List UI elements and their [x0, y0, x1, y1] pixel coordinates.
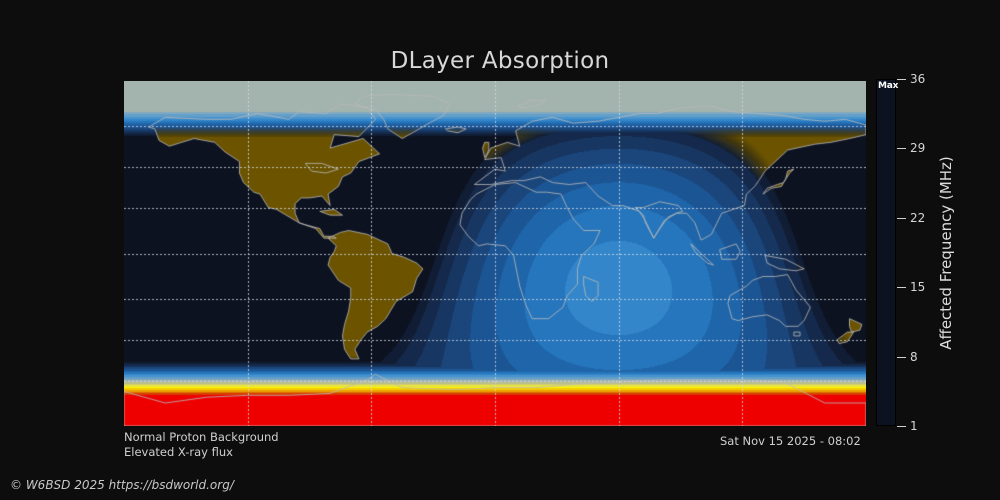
colorbar-tick-mark — [897, 148, 906, 149]
colorbar-tick-mark — [897, 426, 906, 427]
colorbar: Max — [876, 79, 896, 426]
colorbar-tick-label: 29 — [910, 141, 925, 155]
colorbar-axis-label-text: Affected Frequency (MHz) — [937, 156, 955, 350]
page-title: DLayer Absorption — [0, 48, 1000, 74]
world-absorption-map — [124, 81, 866, 426]
timestamp-label: Sat Nov 15 2025 - 08:02 — [720, 434, 861, 448]
xray-status-note: Elevated X-ray flux — [124, 445, 233, 459]
colorbar-tick-mark — [897, 357, 906, 358]
colorbar-tick-label: 15 — [910, 280, 925, 294]
colorbar-axis-label: Affected Frequency (MHz) — [934, 79, 958, 426]
colorbar-tick-label: 1 — [910, 419, 918, 433]
colorbar-tick-label: 8 — [910, 350, 918, 364]
colorbar-tick-mark — [897, 218, 906, 219]
colorbar-tick-mark — [897, 287, 906, 288]
colorbar-tick-mark — [897, 79, 906, 80]
map-canvas — [124, 81, 866, 426]
colorbar-tick-label: 22 — [910, 211, 925, 225]
proton-status-note: Normal Proton Background — [124, 430, 279, 444]
dlayer-absorption-page: DLayer Absorption Max 3629221581 Affecte… — [0, 0, 1000, 500]
colorbar-max-label: Max — [878, 81, 898, 92]
colorbar-tick-label: 36 — [910, 72, 925, 86]
copyright-label: © W6BSD 2025 https://bsdworld.org/ — [10, 478, 234, 492]
